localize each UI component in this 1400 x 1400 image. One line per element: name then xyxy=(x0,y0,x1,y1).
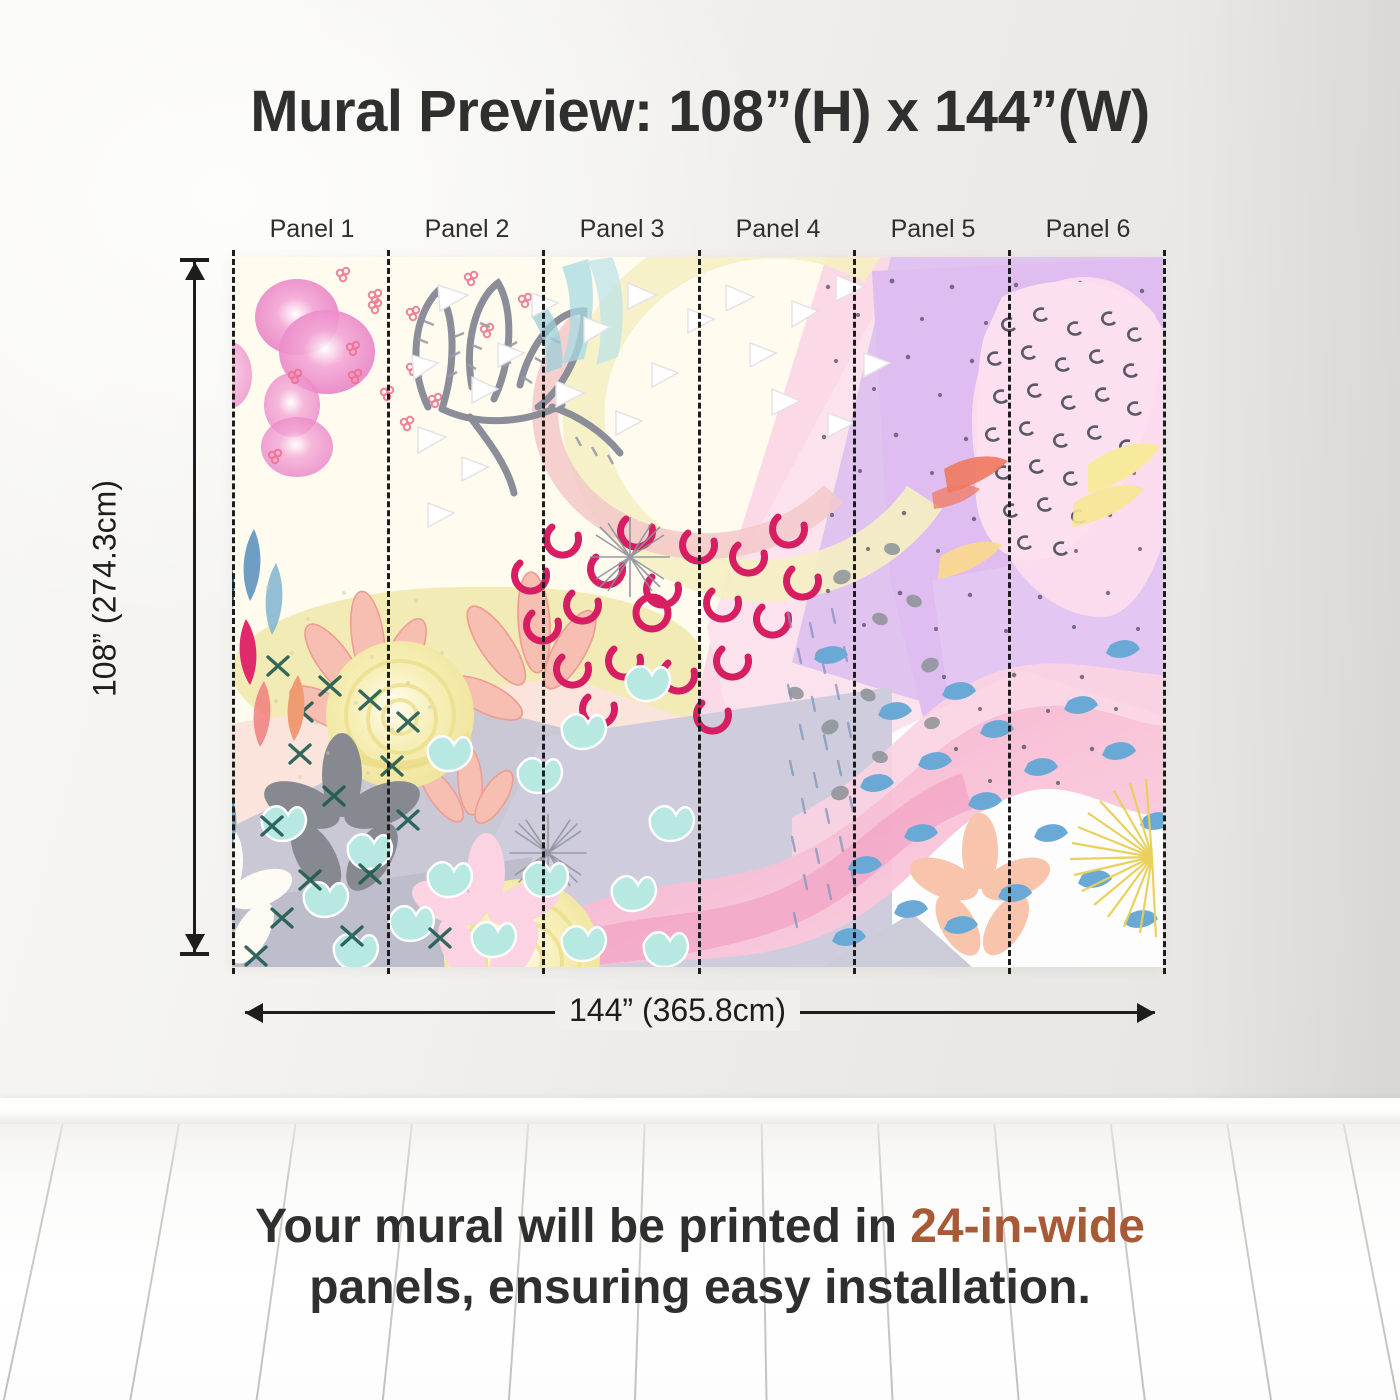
panel-label-6: Panel 6 xyxy=(1008,215,1168,244)
caption-accent: 24-in-wide xyxy=(910,1200,1145,1253)
caption-line1-before: Your mural will be printed in xyxy=(255,1200,910,1253)
panel-divider-icon xyxy=(698,250,701,974)
caption-line2: panels, ensuring easy installation. xyxy=(0,1257,1400,1318)
panel-divider-icon xyxy=(1008,250,1011,974)
panel-divider-icon xyxy=(853,250,856,974)
panel-label-5: Panel 5 xyxy=(853,215,1013,244)
height-dimension-label: 108” (274.3cm) xyxy=(87,479,124,699)
width-dimension-label: 144” (365.8cm) xyxy=(555,990,800,1031)
panel-divider-icon xyxy=(387,250,390,974)
panel-label-1: Panel 1 xyxy=(232,215,392,244)
height-tick-bottom xyxy=(180,952,209,956)
baseboard xyxy=(0,1098,1400,1124)
height-tick-top xyxy=(180,258,209,262)
panel-divider-icon xyxy=(232,250,235,974)
caption: Your mural will be printed in 24-in-wide… xyxy=(0,1196,1400,1319)
panel-label-2: Panel 2 xyxy=(387,215,547,244)
panel-label-4: Panel 4 xyxy=(698,215,858,244)
panel-divider-icon xyxy=(542,250,545,974)
page-title: Mural Preview: 108”(H) x 144”(W) xyxy=(0,78,1400,145)
height-arrow-icon xyxy=(193,262,196,952)
panel-divider-icon xyxy=(1163,250,1166,974)
panel-label-3: Panel 3 xyxy=(542,215,702,244)
